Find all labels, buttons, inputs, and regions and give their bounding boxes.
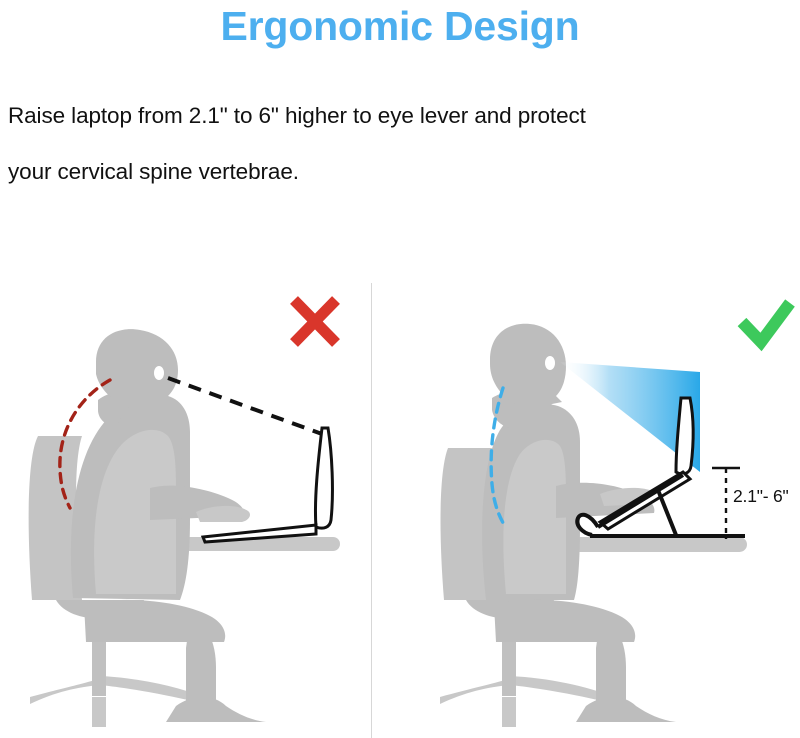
cross-icon — [294, 300, 336, 343]
eye-right — [545, 356, 555, 370]
height-dimension-label: 2.1"- 6" — [733, 486, 789, 507]
right-panel-figure — [440, 303, 790, 727]
chair-caster-left — [92, 697, 106, 727]
infographic-page: Ergonomic Design Raise laptop from 2.1" … — [0, 0, 800, 738]
chair-base-left — [30, 676, 205, 704]
foot-right — [576, 697, 676, 722]
check-icon — [742, 303, 790, 342]
comparison-illustration — [0, 0, 800, 738]
chair-caster-right — [502, 697, 516, 727]
sight-line-left — [168, 378, 322, 434]
laptop-left — [203, 428, 332, 542]
left-panel-figure — [29, 300, 340, 727]
foot-left — [166, 697, 266, 722]
eye-left — [154, 366, 164, 380]
chair-base-right — [440, 676, 615, 704]
